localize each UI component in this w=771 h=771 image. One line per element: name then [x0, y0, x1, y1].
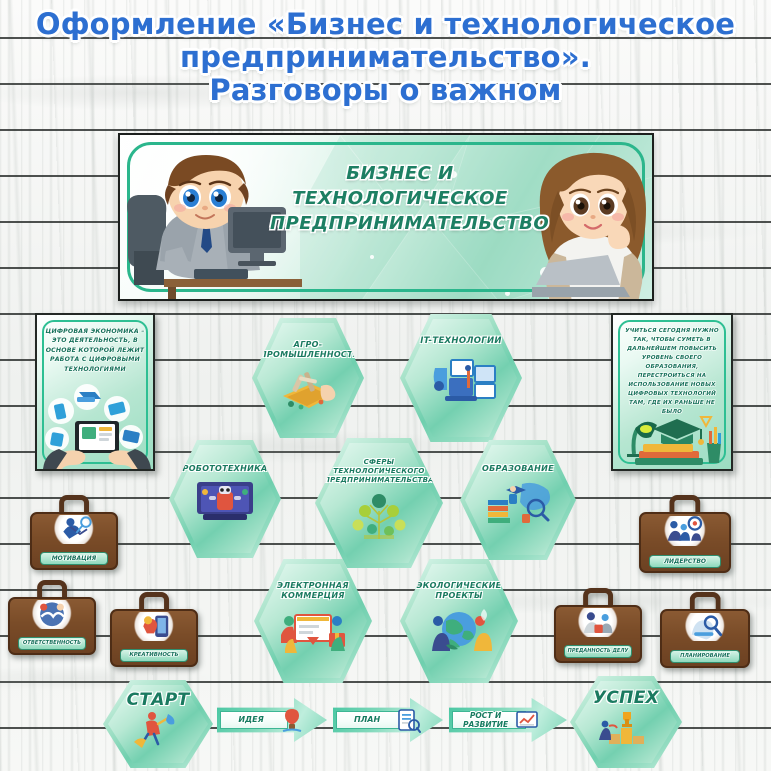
computers-screens-icon: [425, 352, 497, 404]
arrow-label: РОСТ И РАЗВИТИЕ: [449, 711, 515, 729]
briefcase-motivation[interactable]: МОТИВАЦИЯ: [30, 495, 118, 570]
network-tree-icon: [346, 489, 412, 541]
worker-people-icon: [578, 608, 618, 637]
lightbulb-tablet-icon: [134, 612, 174, 641]
briefcase-label: ПРЕДАННОСТЬ ДЕЛУ: [564, 645, 633, 658]
robot-icon: [193, 480, 257, 522]
hexagon-start-label: СТАРТ: [111, 690, 206, 710]
hexagon-label: IT-ТЕХНОЛОГИИ: [409, 336, 514, 346]
arrow-label: ПЛАН: [333, 715, 395, 725]
person-running-rocket-icon: [130, 708, 186, 748]
banner-title: БИЗНЕС И ТЕХНОЛОГИЧЕСКОЕ ПРЕДПРИНИМАТЕЛЬ…: [270, 161, 530, 236]
digital-economy-poster: ЦИФРОВАЯ ЭКОНОМИКА – ЭТО ДЕЯТЕЛЬНОСТЬ, В…: [35, 313, 155, 471]
hexagon-label: АГРО-ПРОМЫШЛЕННОСТЬ: [260, 340, 356, 360]
banner-girl-character: [532, 147, 654, 301]
briefcase-creativity[interactable]: КРЕАТИВНОСТЬ: [110, 592, 198, 667]
globe-plants-icon: [424, 605, 494, 653]
podium-trophy-icon: [597, 706, 655, 744]
briefcase-label: ОТВЕТСТВЕННОСТЬ: [18, 637, 87, 650]
briefcase-label: ПЛАНИРОВАНИЕ: [670, 650, 740, 663]
graduation-cap-books-lamp-icon: [621, 403, 729, 465]
books-graduation-icon: [484, 480, 552, 524]
main-banner: БИЗНЕС И ТЕХНОЛОГИЧЕСКОЕ ПРЕДПРИНИМАТЕЛЬ…: [118, 133, 654, 301]
handshake-icon: [32, 600, 72, 629]
briefcase-planning[interactable]: ПЛАНИРОВАНИЕ: [660, 592, 750, 668]
briefcase-leadership[interactable]: ЛИДЕРСТВО: [639, 495, 731, 573]
hexagon-success-label: УСПЕХ: [578, 688, 674, 708]
hands-holding-tablet-icon: [43, 383, 151, 469]
banner-title-line-3: ПРЕДПРИНИМАТЕЛЬСТВО: [270, 211, 530, 236]
magnifier-chart-icon: [684, 613, 725, 642]
banner-title-line-2: ТЕХНОЛОГИЧЕСКОЕ: [270, 186, 530, 211]
hexagon-label: РОБОТОТЕХНИКА: [177, 464, 273, 474]
briefcase-label: МОТИВАЦИЯ: [40, 552, 109, 565]
hexagon-label: СФЕРЫ ТЕХНОЛОГИЧЕСКОГО ПРЕДПРИНИМАТЕЛЬСТ…: [324, 458, 434, 485]
briefcase-responsibility[interactable]: ОТВЕТСТВЕННОСТЬ: [8, 580, 96, 655]
person-rocket-icon: [54, 515, 94, 544]
learning-today-poster: УЧИТЬСЯ СЕГОДНЯ НУЖНО ТАК, ЧТОБЫ СУМЕТЬ …: [611, 313, 733, 471]
briefcase-dedication[interactable]: ПРЕДАННОСТЬ ДЕЛУ: [554, 588, 642, 663]
hexagon-label: ЭЛЕКТРОННАЯ КОММЕРЦИЯ: [262, 581, 363, 601]
online-shopping-icon: [277, 605, 349, 653]
team-target-icon: [664, 516, 706, 546]
balloon-idea-icon: [279, 707, 305, 733]
poster-text: ЦИФРОВАЯ ЭКОНОМИКА – ЭТО ДЕЯТЕЛЬНОСТЬ, В…: [45, 327, 145, 374]
hexagon-label: ОБРАЗОВАНИЕ: [468, 464, 568, 474]
briefcase-label: ЛИДЕРСТВО: [649, 555, 721, 568]
hexagon-label: ЭКОЛОГИЧЕСКИЕ ПРОЕКТЫ: [408, 581, 509, 601]
banner-title-line-1: БИЗНЕС И: [270, 161, 530, 186]
clipboard-plan-icon: [395, 707, 421, 733]
tractor-field-icon: [277, 366, 339, 412]
briefcase-label: КРЕАТИВНОСТЬ: [120, 649, 189, 662]
growth-chart-icon: [515, 709, 539, 731]
arrow-label: ИДЕЯ: [217, 715, 279, 725]
